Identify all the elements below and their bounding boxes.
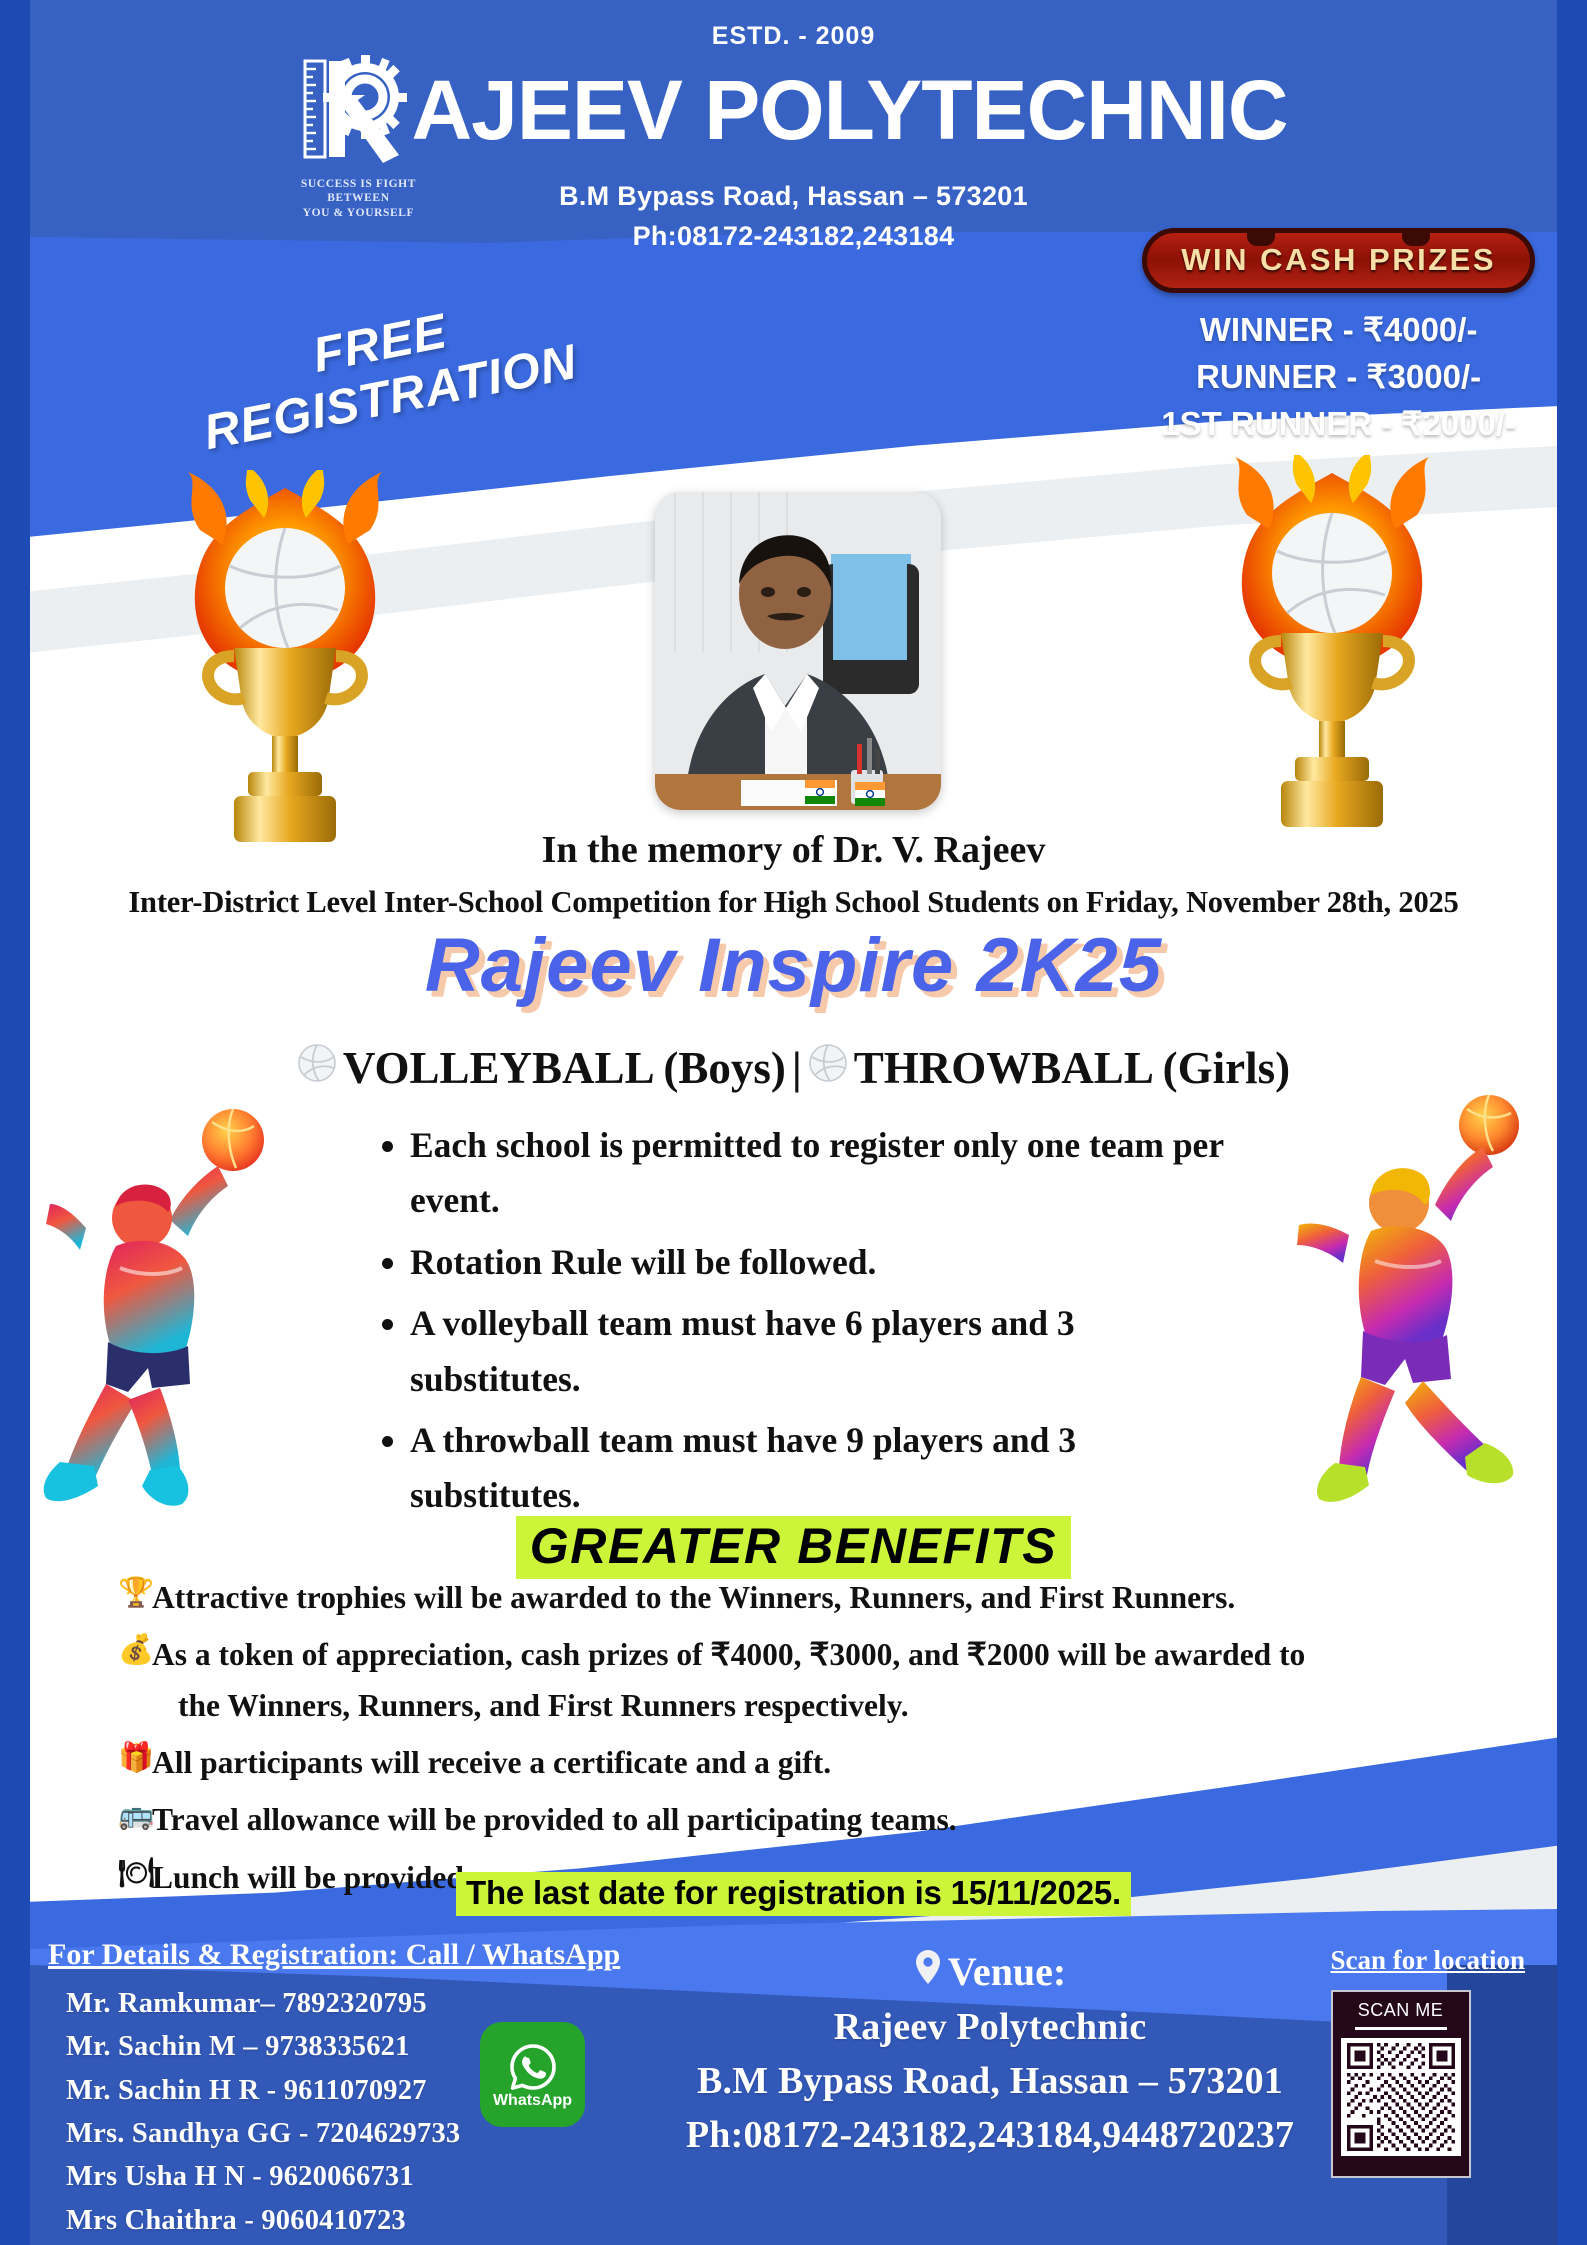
prize-first-runner: 1ST RUNNER - ₹2000/- [1142, 401, 1535, 448]
scan-location-section[interactable]: Scan for location SCAN ME [1331, 1945, 1526, 2178]
benefit-item: 🎁 All participants will receive a certif… [118, 1743, 1448, 1783]
venue-phone: Ph:08172-243182,243184,9448720237 [600, 2113, 1380, 2157]
whatsapp-icon[interactable]: WhatsApp [480, 2022, 585, 2127]
greater-benefits-heading-wrap: GREATER BENEFITS [0, 1516, 1587, 1579]
greater-benefits-heading: GREATER BENEFITS [516, 1516, 1071, 1579]
volleyball-icon-boys [297, 1042, 337, 1094]
contact-person[interactable]: Mrs Usha H N - 9620066731 [66, 2155, 620, 2198]
college-logo-icon: SUCCESS IS FIGHT BETWEEN YOU & YOURSELF [299, 47, 417, 175]
prize-runner: RUNNER - ₹3000/- [1142, 354, 1535, 401]
scan-for-location-label: Scan for location [1331, 1945, 1526, 1976]
sports-girls-label: THROWBALL (Girls) [854, 1042, 1290, 1094]
prize-amount-list: WINNER - ₹4000/- RUNNER - ₹3000/- 1ST RU… [1142, 307, 1535, 448]
college-name: AJEEV POLYTECHNIC [411, 71, 1287, 151]
sports-categories: VOLLEYBALL (Boys) | THROWBALL (Girls) [0, 1042, 1587, 1094]
established-year: ESTD. - 2009 [0, 0, 1587, 51]
flaming-trophy-right-icon [1207, 455, 1457, 855]
benefit-text-main: As a token of appreciation, cash prizes … [152, 1637, 1305, 1672]
flaming-trophy-left-icon [160, 470, 410, 870]
prize-winner: WINNER - ₹4000/- [1142, 307, 1535, 354]
benefit-item: 🏆 Attractive trophies will be awarded to… [118, 1578, 1448, 1618]
throwball-player-illustration [1239, 1085, 1579, 1525]
contact-person[interactable]: Mr. Ramkumar– 7892320795 [66, 1982, 620, 2025]
gift-icon: 🎁 [118, 1743, 152, 1775]
rule-item: Rotation Rule will be followed. [410, 1235, 1240, 1290]
event-subline: Inter-District Level Inter-School Compet… [0, 885, 1587, 920]
event-poster: ESTD. - 2009 [0, 0, 1587, 2245]
benefits-list: 🏆 Attractive trophies will be awarded to… [118, 1578, 1448, 1915]
whatsapp-badge[interactable]: WhatsApp [480, 2022, 585, 2127]
benefit-text-continuation: the Winners, Runners, and First Runners … [152, 1686, 1448, 1726]
trophy-icon: 🏆 [118, 1578, 152, 1610]
bus-icon: 🚌 [118, 1800, 152, 1832]
venue-section: Venue: Rajeev Polytechnic B.M Bypass Roa… [600, 1948, 1380, 2157]
qr-divider [1355, 2027, 1447, 2030]
dignitary-portrait-photo [655, 492, 941, 810]
whatsapp-label: WhatsApp [493, 2092, 572, 2110]
location-pin-icon [914, 1948, 942, 1995]
rule-item: A volleyball team must have 6 players an… [410, 1296, 1240, 1407]
venue-address: B.M Bypass Road, Hassan – 573201 [600, 2059, 1380, 2103]
memorial-line: In the memory of Dr. V. Rajeev [0, 828, 1587, 872]
event-title: Rajeev Inspire 2K25 [0, 922, 1587, 1009]
benefit-item: 💰 As a token of appreciation, cash prize… [118, 1635, 1448, 1726]
venue-name: Rajeev Polytechnic [600, 2005, 1380, 2049]
benefit-text: All participants will receive a certific… [152, 1743, 1448, 1783]
benefit-text: Attractive trophies will be awarded to t… [152, 1578, 1448, 1618]
qr-code-image[interactable] [1341, 2038, 1461, 2156]
venue-title-row: Venue: [600, 1948, 1380, 1995]
volleyball-icon-girls [808, 1042, 848, 1094]
venue-title: Venue: [948, 1948, 1067, 1995]
logo-tagline-line2: YOU & YOURSELF [303, 207, 414, 219]
sports-boys-label: VOLLEYBALL (Boys) [343, 1042, 786, 1094]
logo-tagline-line1: SUCCESS IS FIGHT BETWEEN [301, 178, 416, 204]
college-title-row: SUCCESS IS FIGHT BETWEEN YOU & YOURSELF … [0, 47, 1587, 175]
rule-item: Each school is permitted to register onl… [410, 1118, 1240, 1229]
logo-tagline: SUCCESS IS FIGHT BETWEEN YOU & YOURSELF [299, 177, 417, 220]
benefit-text: As a token of appreciation, cash prizes … [152, 1635, 1448, 1726]
deadline-wrap: The last date for registration is 15/11/… [0, 1872, 1587, 1916]
poster-header: ESTD. - 2009 [0, 0, 1587, 240]
win-cash-prizes-banner: WIN CASH PRIZES [1142, 228, 1535, 293]
volleyball-player-illustration [20, 1100, 350, 1520]
college-address: B.M Bypass Road, Hassan – 573201 [0, 181, 1587, 212]
benefit-item: 🚌 Travel allowance will be provided to a… [118, 1800, 1448, 1840]
win-cash-prizes-label: WIN CASH PRIZES [1181, 242, 1496, 277]
competition-rules: Each school is permitted to register onl… [380, 1118, 1240, 1530]
rule-item: A throwball team must have 9 players and… [410, 1413, 1240, 1524]
prize-section: WIN CASH PRIZES WINNER - ₹4000/- RUNNER … [1142, 228, 1535, 448]
sports-separator: | [792, 1042, 802, 1094]
contact-person[interactable]: Mrs Chaithra - 9060410723 [66, 2199, 620, 2242]
money-bag-icon: 💰 [118, 1635, 152, 1667]
qr-code-card[interactable]: SCAN ME [1331, 1990, 1471, 2178]
scan-me-label: SCAN ME [1341, 2000, 1461, 2021]
registration-deadline: The last date for registration is 15/11/… [456, 1872, 1131, 1916]
benefit-text: Travel allowance will be provided to all… [152, 1800, 1448, 1840]
contacts-heading: For Details & Registration: Call / Whats… [48, 1938, 620, 1972]
